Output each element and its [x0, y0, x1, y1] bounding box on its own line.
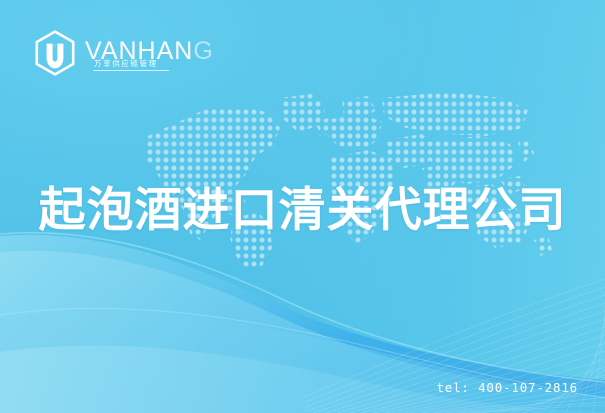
promo-banner: VANHANG 万享供应链管理 起泡酒进口清关代理公司 tel: 400-107…: [0, 0, 605, 413]
vanhang-hexagon-u-logo-icon: [34, 30, 76, 76]
brand-wordmark: VANHANG 万享供应链管理: [85, 30, 214, 76]
brand-wordmark-outline-g: G: [193, 37, 213, 65]
contact-telephone: tel: 400-107-2816: [436, 380, 578, 396]
brand-logo[interactable]: VANHANG 万享供应链管理: [34, 30, 214, 76]
brand-subtitle: 万享供应链管理: [94, 59, 158, 69]
page-title: 起泡酒进口清关代理公司: [0, 183, 605, 239]
brand-wordmark-rule: [93, 70, 169, 71]
